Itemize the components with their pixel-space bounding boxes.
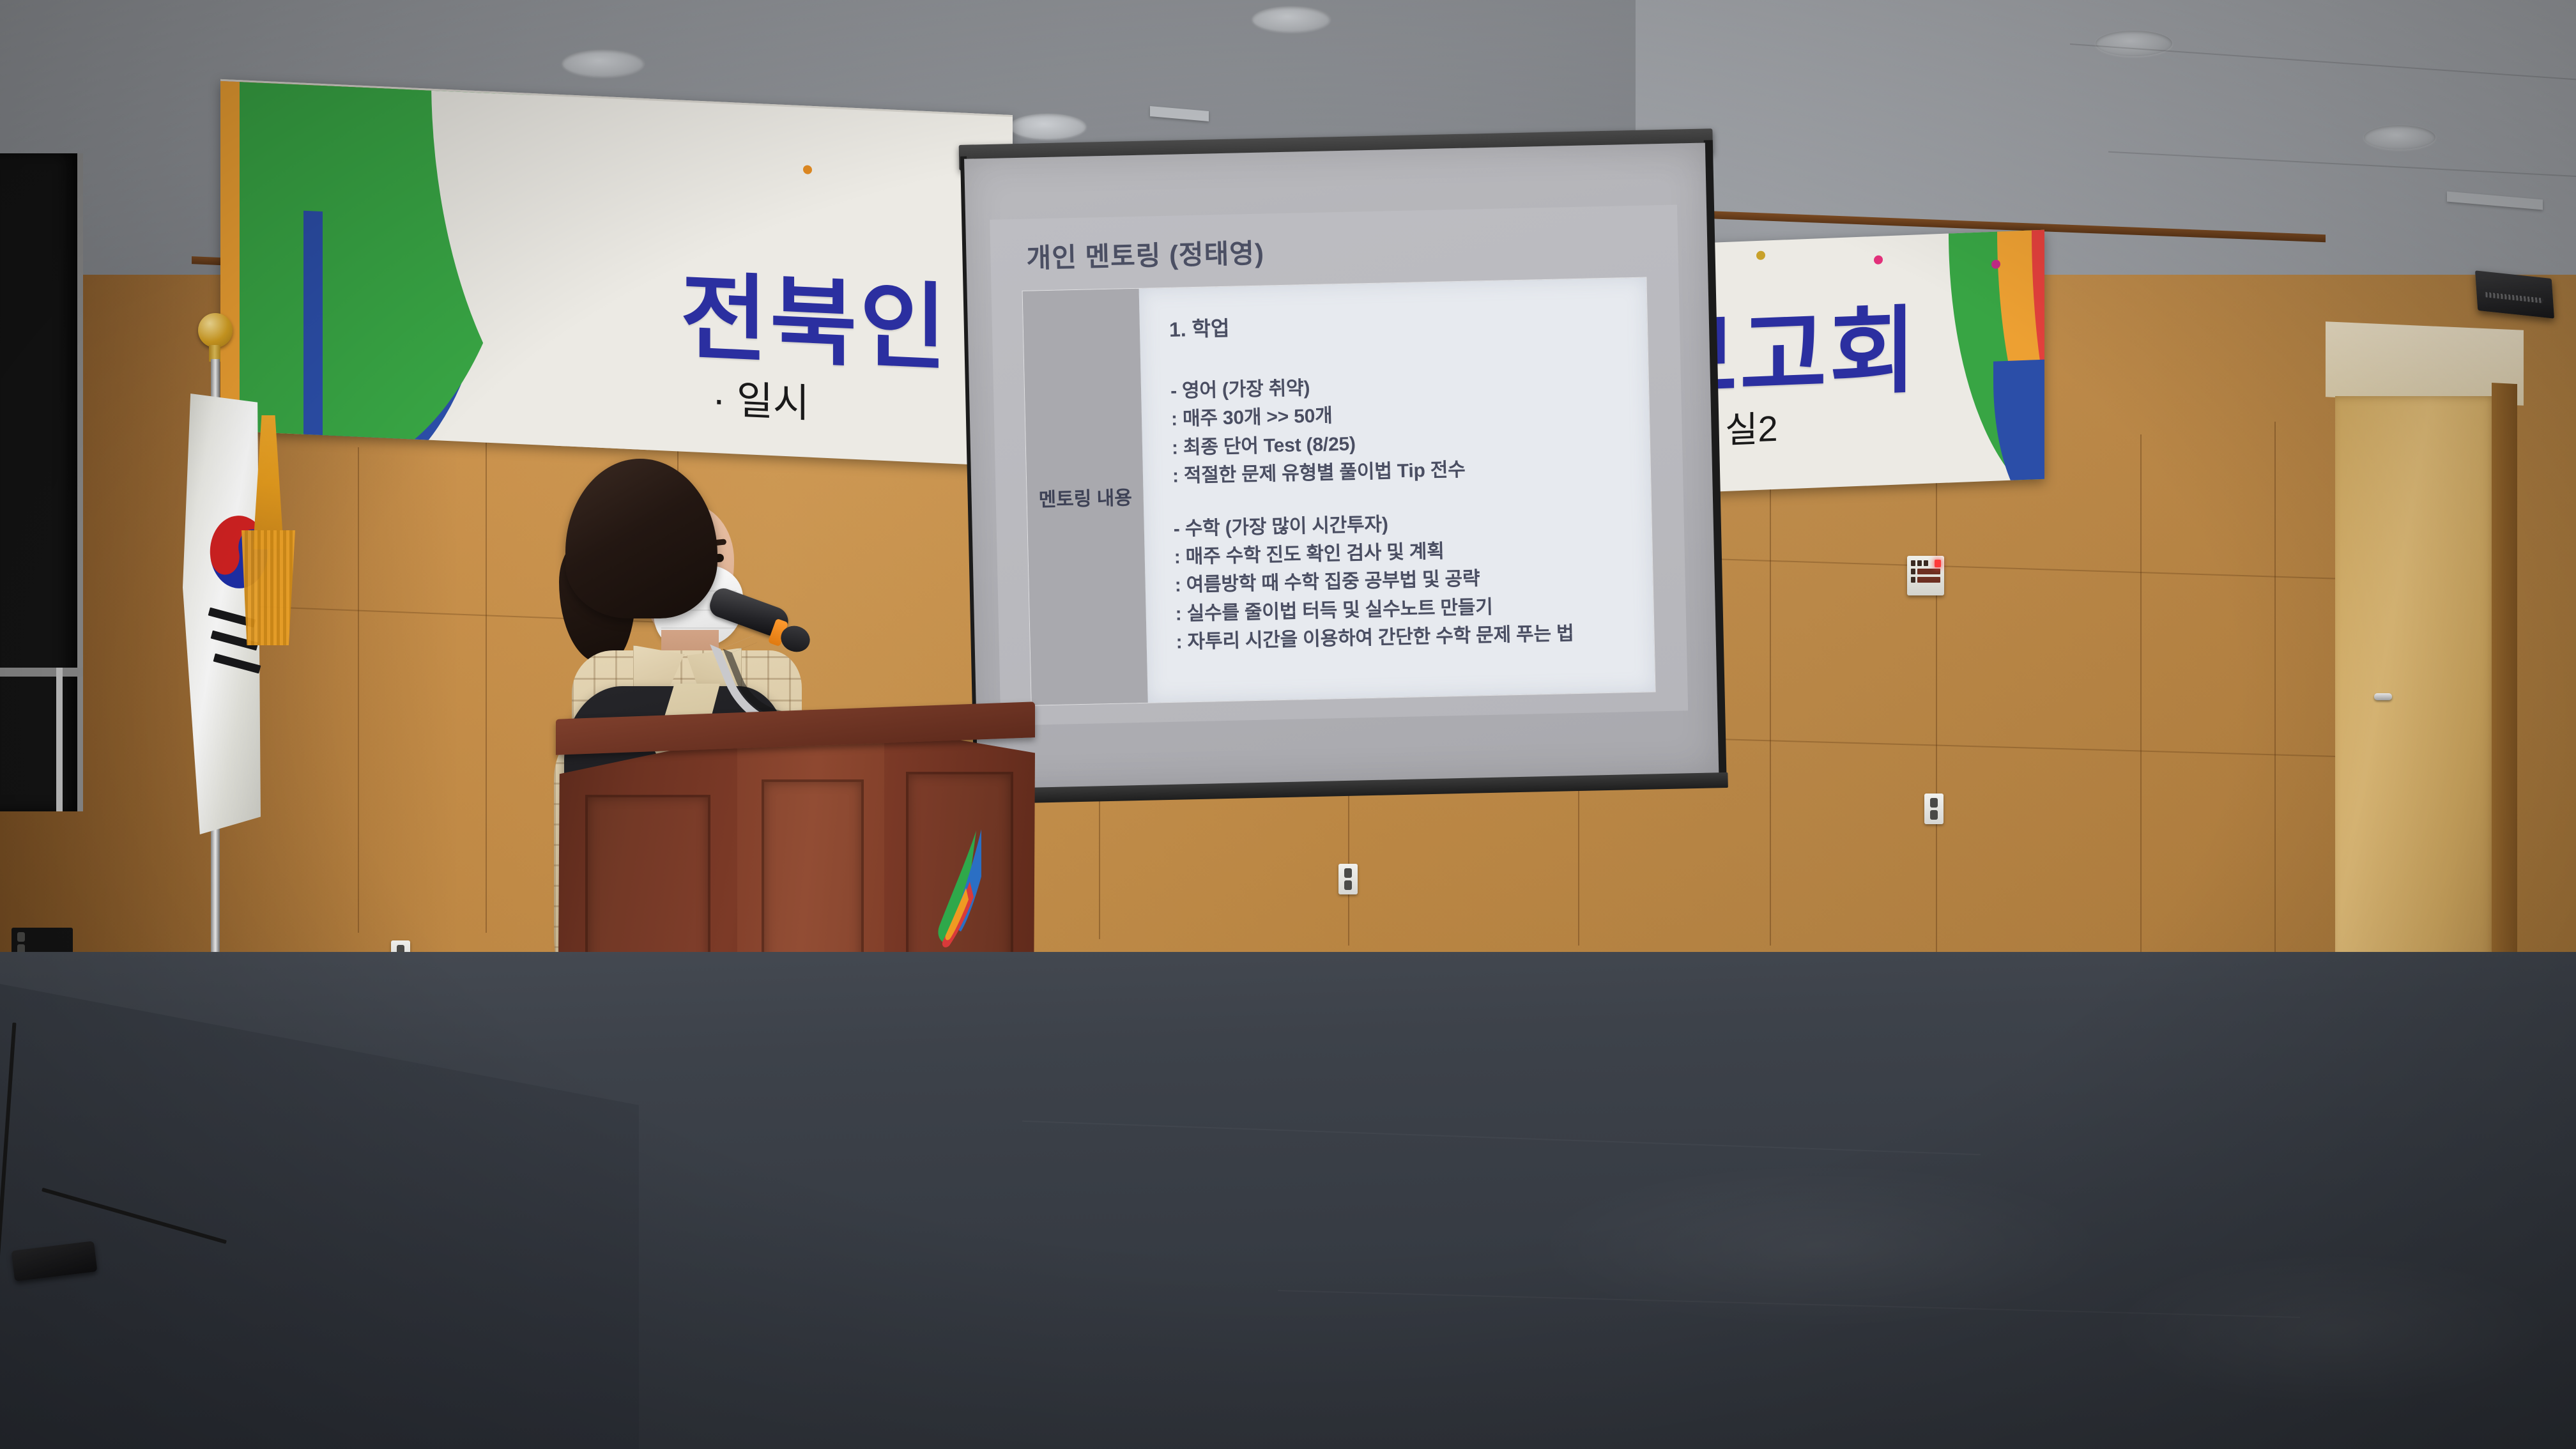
control-row-3[interactable] <box>1911 577 1940 583</box>
wall-speaker <box>2475 270 2554 318</box>
wall-control-panel[interactable] <box>1907 556 1944 595</box>
carpet-sheen-2 <box>2108 1252 2556 1406</box>
slide-content: 1. 학업 - 영어 (가장 취약) : 매주 30개 >> 50개 : 최종 … <box>1139 278 1655 703</box>
screen-surface: 개인 멘토링 (정태영) 멘토링 내용 1. 학업 - 영어 (가장 취약) :… <box>964 142 1719 791</box>
wall-outlet-center <box>1338 864 1358 894</box>
control-bar-2[interactable] <box>1917 577 1940 583</box>
slide-title: 개인 멘토링 (정태영) <box>1026 232 1265 276</box>
banner-subtitle-left: · 일시 <box>712 367 809 429</box>
ceiling-light-6 <box>2364 125 2435 149</box>
presenter-hair <box>565 459 717 618</box>
event-banner-left: 전북인 · 일시 <box>220 79 1013 466</box>
wall-seam-7 <box>1770 486 1771 946</box>
ceiling-light-1 <box>562 50 644 77</box>
banner-pin-1 <box>803 165 812 174</box>
wall-seam-10 <box>2274 422 2276 952</box>
ceiling-light-2 <box>1252 6 1330 32</box>
ribbon-right-blue <box>1993 358 2044 492</box>
control-switch-1[interactable] <box>1911 560 1915 566</box>
ceiling-light-5 <box>2096 31 2172 56</box>
event-banner-right: 보고회 실2 <box>1703 230 2044 493</box>
projected-slide: 개인 멘토링 (정태영) 멘토링 내용 1. 학업 - 영어 (가장 취약) :… <box>990 204 1688 725</box>
ribbon-white-cut <box>431 79 648 466</box>
banner-subtitle-right: 실2 <box>1725 400 1778 454</box>
door-jamb <box>2492 383 2517 1048</box>
slide-row-label: 멘토링 내용 <box>1023 289 1148 705</box>
wall-seam-9 <box>2140 434 2142 952</box>
flag-tassel-fringe <box>241 530 295 645</box>
window-sill <box>0 668 83 677</box>
control-panel-led-indicator <box>1935 560 1941 567</box>
ceiling-light-3 <box>1009 114 1086 139</box>
control-row-2[interactable] <box>1911 569 1940 574</box>
wall-outlet-right <box>1924 793 1943 824</box>
control-bar-1[interactable] <box>1917 569 1940 574</box>
banner-pin-2 <box>1756 251 1765 261</box>
wall-seam-8 <box>1936 447 1937 952</box>
left-window <box>0 153 83 811</box>
slide-table: 멘토링 내용 1. 학업 - 영어 (가장 취약) : 매주 30개 >> 50… <box>1022 277 1656 706</box>
window-mullion <box>56 668 63 811</box>
slide-heading: 1. 학업 <box>1169 303 1647 343</box>
carpet-sheen-1 <box>1533 1163 2108 1329</box>
conference-room-photo: 전북인 · 일시 보고회 실2 개인 멘토링 (정태영) 멘토링 내용 <box>0 0 2576 1449</box>
projection-screen: 개인 멘토링 (정태영) 멘토링 내용 1. 학업 - 영어 (가장 취약) :… <box>964 134 1719 814</box>
flag-finial-icon <box>198 313 233 348</box>
control-switch-4[interactable] <box>1911 569 1915 574</box>
wall-seam-1 <box>358 447 359 933</box>
jeollabukdo-emblem-icon <box>930 827 989 948</box>
banner-title-right: 보고회 <box>1703 273 1919 420</box>
control-switch-5[interactable] <box>1911 577 1915 583</box>
speaker-grille <box>2485 292 2543 303</box>
banner-pin-3 <box>1874 255 1883 264</box>
room-door[interactable] <box>2335 396 2496 1041</box>
control-switch-3[interactable] <box>1924 560 1928 566</box>
door-handle-icon[interactable] <box>2374 693 2392 700</box>
control-switch-2[interactable] <box>1917 560 1922 566</box>
